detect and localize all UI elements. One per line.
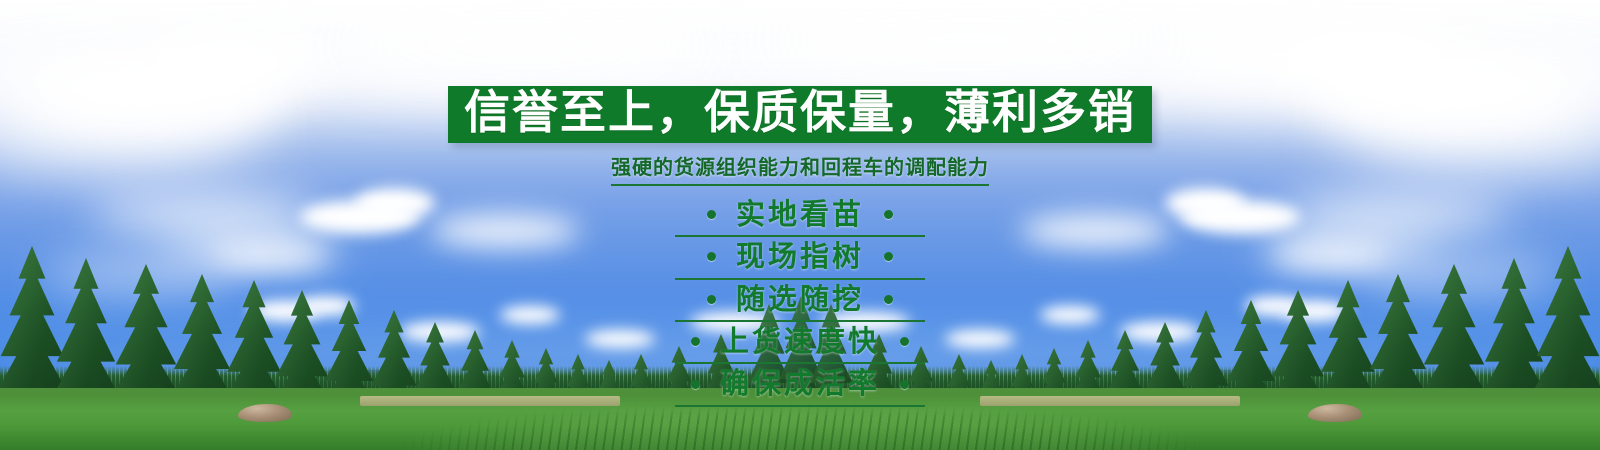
- bullet-dot-icon: [884, 210, 893, 219]
- bullet-dot-icon: [707, 210, 716, 219]
- feature-item: 上货速度快: [675, 322, 925, 364]
- promotional-banner: 信誉至上，保质保量，薄利多销 强硬的货源组织能力和回程车的调配能力 实地看苗 现…: [0, 0, 1600, 450]
- feature-label: 现场指树: [736, 239, 864, 274]
- feature-label: 确保成活率: [720, 366, 880, 401]
- bullet-dot-icon: [884, 295, 893, 304]
- bullet-dot-icon: [884, 252, 893, 261]
- feature-label: 实地看苗: [736, 197, 864, 232]
- bullet-dot-icon: [900, 337, 909, 346]
- banner-content: 信誉至上，保质保量，薄利多销 强硬的货源组织能力和回程车的调配能力 实地看苗 现…: [0, 0, 1600, 450]
- feature-item: 随选随挖: [675, 280, 925, 322]
- bullet-dot-icon: [707, 252, 716, 261]
- feature-label: 随选随挖: [736, 282, 864, 317]
- bullet-dot-icon: [707, 295, 716, 304]
- feature-item: 实地看苗: [675, 195, 925, 237]
- bullet-dot-icon: [900, 380, 909, 389]
- subtitle-text: 强硬的货源组织能力和回程车的调配能力: [611, 151, 989, 186]
- bullet-dot-icon: [691, 380, 700, 389]
- feature-item: 现场指树: [675, 237, 925, 279]
- feature-item: 确保成活率: [675, 364, 925, 406]
- bullet-dot-icon: [691, 337, 700, 346]
- feature-label: 上货速度快: [720, 324, 880, 359]
- headline-banner: 信誉至上，保质保量，薄利多销: [448, 86, 1152, 143]
- feature-list: 实地看苗 现场指树 随选随挖 上货速度快 确保成活率: [675, 195, 925, 407]
- headline-text: 信誉至上，保质保量，薄利多销: [464, 89, 1136, 136]
